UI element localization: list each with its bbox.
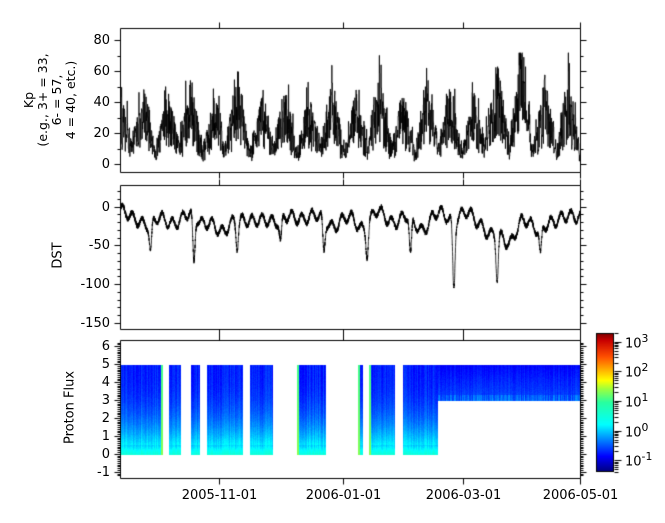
y-tick-label: 0 [70, 201, 110, 214]
colorbar-tick-label: 102 [625, 363, 648, 379]
colorbar-tick-label: 10-1 [625, 452, 652, 468]
colorbar-tick-label: 101 [625, 393, 648, 409]
proton-flux-axis-title: Proton Flux [64, 348, 77, 468]
colorbar-tick-label: 103 [625, 334, 648, 350]
dst-axis-title: DST [52, 216, 65, 296]
colorbar-tick-label: 100 [625, 423, 648, 439]
y-tick-label: -50 [70, 239, 110, 252]
x-tick-label: 2006-03-01 [404, 489, 524, 502]
y-tick-label: -150 [70, 317, 110, 330]
figure-container: 020406080Kp (e.g., 3+ = 33, 6- = 57, 4 =… [0, 0, 665, 523]
x-tick-label: 2005-11-01 [160, 489, 280, 502]
y-tick-label: -100 [70, 278, 110, 291]
x-tick-label: 2006-05-01 [521, 489, 641, 502]
x-tick-label: 2006-01-01 [284, 489, 404, 502]
kp-axis-title: Kp (e.g., 3+ = 33, 6- = 57, 4 = 40, etc.… [22, 25, 78, 175]
